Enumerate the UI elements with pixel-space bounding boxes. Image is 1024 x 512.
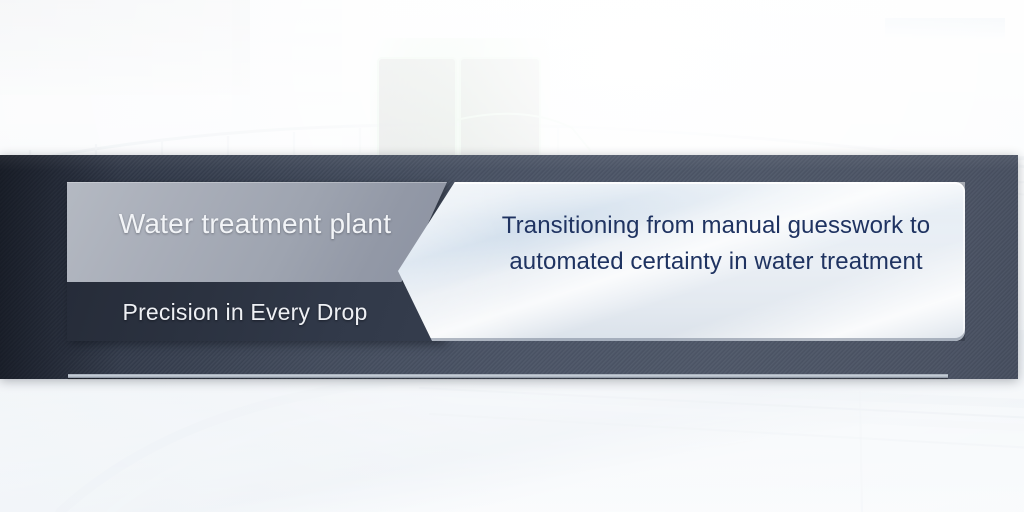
left-title-card: Water treatment plant Precision in Every… <box>67 182 447 341</box>
description-text: Transitioning from manual guesswork to a… <box>490 208 942 280</box>
banner-stage: Water treatment plant Precision in Every… <box>0 0 1024 512</box>
band-top-highlight <box>0 155 1018 171</box>
page-title: Water treatment plant <box>83 208 427 240</box>
right-description-card: Transitioning from manual guesswork to a… <box>398 182 965 341</box>
page-subtitle: Precision in Every Drop <box>73 299 417 326</box>
band-divider-line <box>68 374 948 378</box>
